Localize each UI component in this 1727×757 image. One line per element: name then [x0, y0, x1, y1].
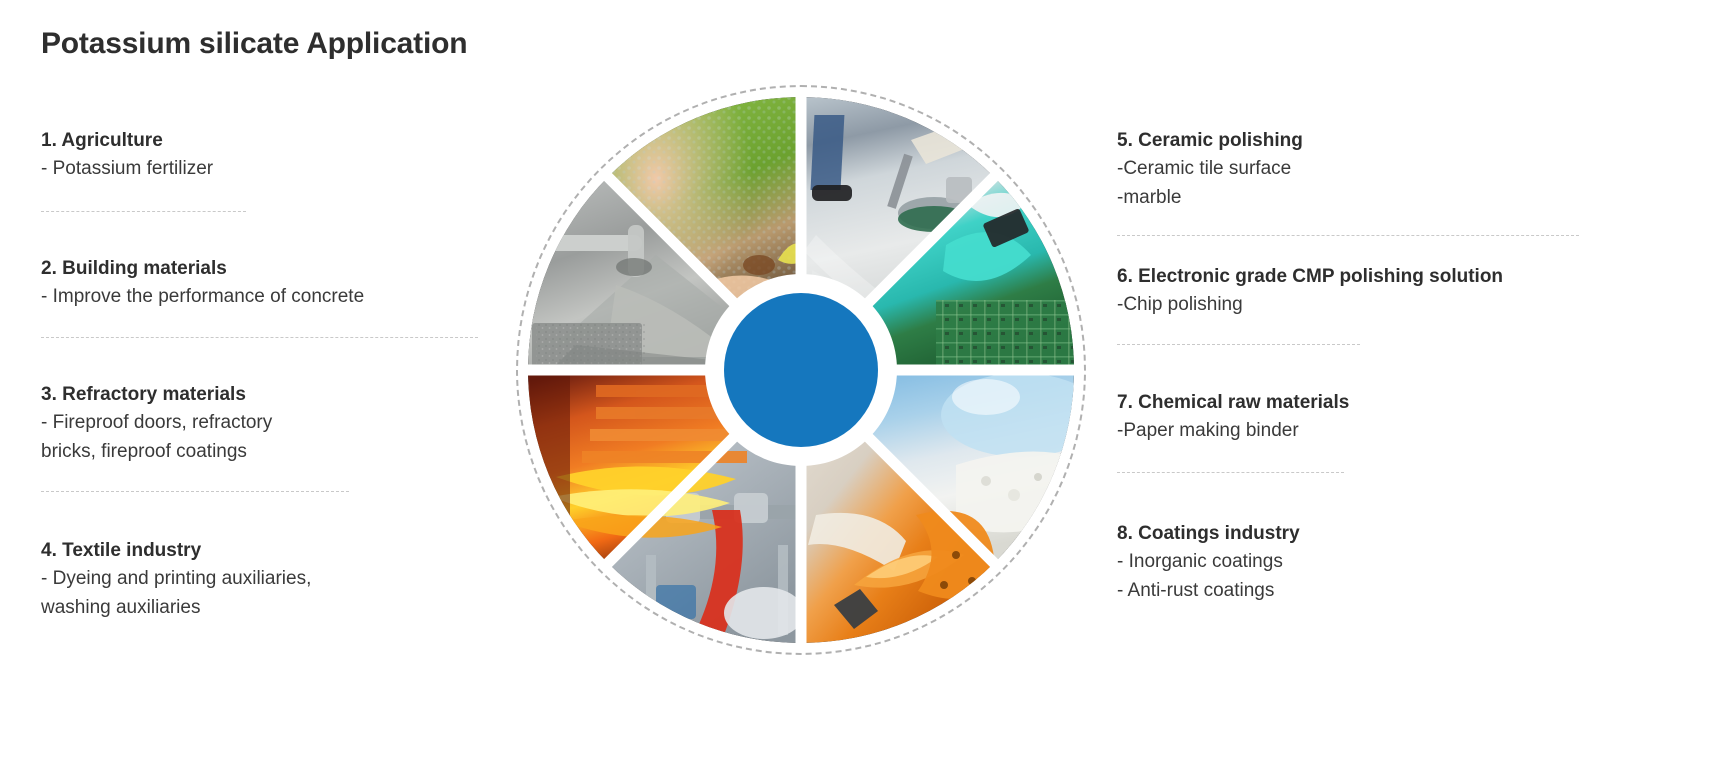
entry-line: - Potassium fertilizer: [41, 154, 511, 183]
divider: [1117, 235, 1579, 236]
entry-line: -marble: [1117, 183, 1727, 212]
left-column: 1. Agriculture - Potassium fertilizer 2.…: [41, 128, 511, 622]
divider: [41, 337, 478, 338]
list-item-textile-industry: 4. Textile industry - Dyeing and printin…: [41, 538, 511, 622]
entry-line: washing auxiliaries: [41, 593, 511, 622]
entry-title: 1. Agriculture: [41, 128, 511, 154]
entry-line: - Fireproof doors, refractory: [41, 408, 511, 437]
entry-line: -Paper making binder: [1117, 416, 1727, 445]
wheel-hub-ring: [705, 274, 897, 466]
entry-title: 7. Chemical raw materials: [1117, 390, 1727, 416]
entry-line: -Chip polishing: [1117, 290, 1727, 319]
list-item-chemical-raw-materials: 7. Chemical raw materials -Paper making …: [1117, 390, 1727, 445]
infographic-page: Potassium silicate Application 1. Agricu…: [0, 0, 1727, 757]
list-item-electronic-cmp: 6. Electronic grade CMP polishing soluti…: [1117, 264, 1727, 319]
divider: [41, 491, 349, 492]
entry-title: 5. Ceramic polishing: [1117, 128, 1727, 154]
list-item-agriculture: 1. Agriculture - Potassium fertilizer: [41, 128, 511, 183]
divider: [41, 211, 246, 212]
list-item-building-materials: 2. Building materials - Improve the perf…: [41, 256, 511, 311]
entry-line: - Inorganic coatings: [1117, 547, 1727, 576]
list-item-refractory-materials: 3. Refractory materials - Fireproof door…: [41, 382, 511, 466]
entry-title: 8. Coatings industry: [1117, 521, 1727, 547]
entry-title: 2. Building materials: [41, 256, 511, 282]
entry-line: - Dyeing and printing auxiliaries,: [41, 564, 511, 593]
entry-line: - Anti-rust coatings: [1117, 576, 1727, 605]
entry-line: -Ceramic tile surface: [1117, 154, 1727, 183]
divider: [1117, 344, 1360, 345]
right-column: 5. Ceramic polishing -Ceramic tile surfa…: [1117, 128, 1727, 605]
entry-line: bricks, fireproof coatings: [41, 437, 511, 466]
entry-line: - Improve the performance of concrete: [41, 282, 511, 311]
divider: [1117, 472, 1344, 473]
entry-title: 3. Refractory materials: [41, 382, 511, 408]
entry-title: 6. Electronic grade CMP polishing soluti…: [1117, 264, 1727, 290]
list-item-ceramic-polishing: 5. Ceramic polishing -Ceramic tile surfa…: [1117, 128, 1727, 212]
page-title: Potassium silicate Application: [41, 27, 467, 61]
wheel-hub-core: [724, 293, 878, 447]
entry-title: 4. Textile industry: [41, 538, 511, 564]
list-item-coatings-industry: 8. Coatings industry - Inorganic coating…: [1117, 521, 1727, 605]
application-wheel: [516, 85, 1086, 655]
